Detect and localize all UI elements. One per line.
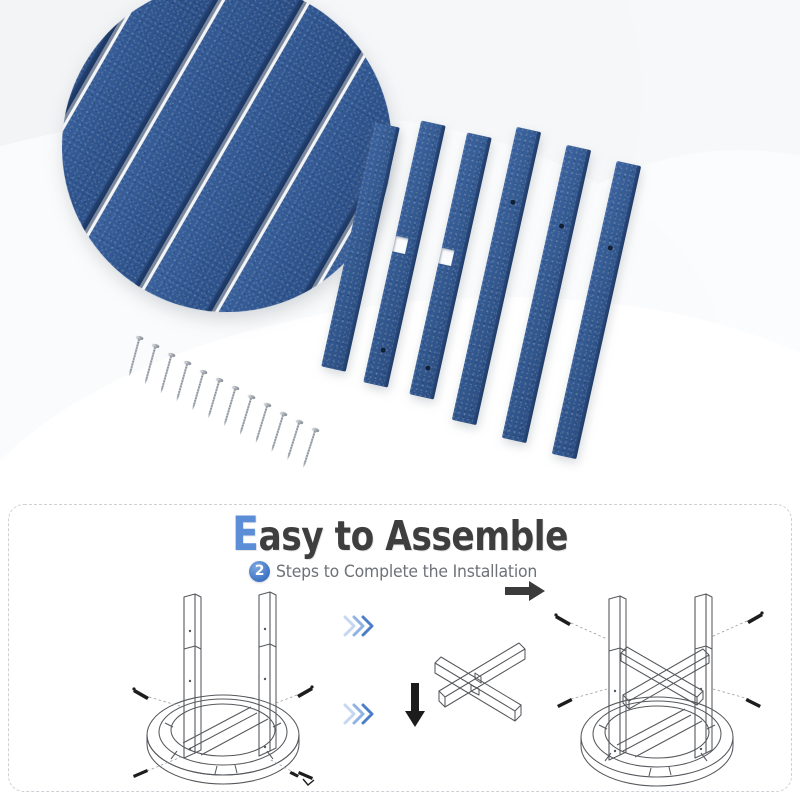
screw — [206, 377, 222, 418]
plank-strips-group — [352, 128, 782, 500]
assembly-diagram-row — [9, 581, 793, 789]
screw-hole — [607, 245, 613, 251]
diagram-step-1-legs-on-tabletop — [105, 583, 345, 789]
screw — [301, 428, 318, 469]
screw-tip — [302, 462, 306, 469]
screw — [159, 352, 174, 394]
screw — [143, 344, 158, 386]
product-parts-photo — [0, 0, 800, 500]
screw-shaft — [208, 380, 220, 413]
panel-heading: Easy to Assemble 2 Steps to Complete the… — [9, 505, 791, 582]
title-remainder: asy to Assemble — [259, 512, 568, 560]
screw-shaft — [129, 339, 141, 373]
screw-shaft — [240, 397, 252, 430]
screw-tip — [254, 437, 258, 444]
screw — [191, 369, 206, 410]
screw-shaft — [145, 347, 157, 381]
diagram-step-2-cross-brace — [391, 619, 541, 769]
down-arrow-icon — [405, 683, 425, 727]
screw-shaft — [192, 372, 204, 405]
interlock-notch — [438, 248, 454, 266]
chevron-right-icon-bottom — [341, 701, 375, 727]
screw — [175, 361, 190, 403]
screws-group — [138, 336, 358, 486]
screw-tip — [175, 395, 179, 402]
screw — [238, 394, 254, 435]
screw-shaft — [161, 355, 173, 389]
screw-tip — [223, 421, 227, 428]
interlock-notch — [392, 236, 408, 254]
screw-shaft — [177, 364, 189, 397]
chevron-right-icon-top — [341, 613, 375, 639]
screw-shaft — [272, 414, 285, 447]
panel-subtitle: 2 Steps to Complete the Installation — [9, 561, 791, 582]
diagram-step-3-completed-frame — [537, 581, 787, 789]
screw-hole — [380, 348, 386, 354]
screw-hole — [559, 223, 565, 229]
screw — [254, 403, 270, 444]
screw — [222, 386, 238, 427]
page-title: Easy to Assemble — [72, 511, 729, 559]
screw-hole — [425, 365, 431, 371]
title-capital-letter: E — [232, 507, 258, 562]
screw-tip — [144, 379, 148, 386]
screw-shaft — [288, 422, 301, 455]
easy-to-assemble-panel: Easy to Assemble 2 Steps to Complete the… — [8, 504, 792, 792]
screw-hole — [510, 199, 516, 205]
status-badge: 2 — [249, 561, 270, 582]
screw — [270, 411, 286, 452]
screw — [127, 335, 142, 377]
subtitle-text: Steps to Complete the Installation — [276, 562, 537, 581]
screw — [285, 419, 301, 460]
screw-shaft — [256, 406, 269, 439]
screw-shaft — [303, 431, 316, 464]
screw-shaft — [224, 389, 236, 422]
